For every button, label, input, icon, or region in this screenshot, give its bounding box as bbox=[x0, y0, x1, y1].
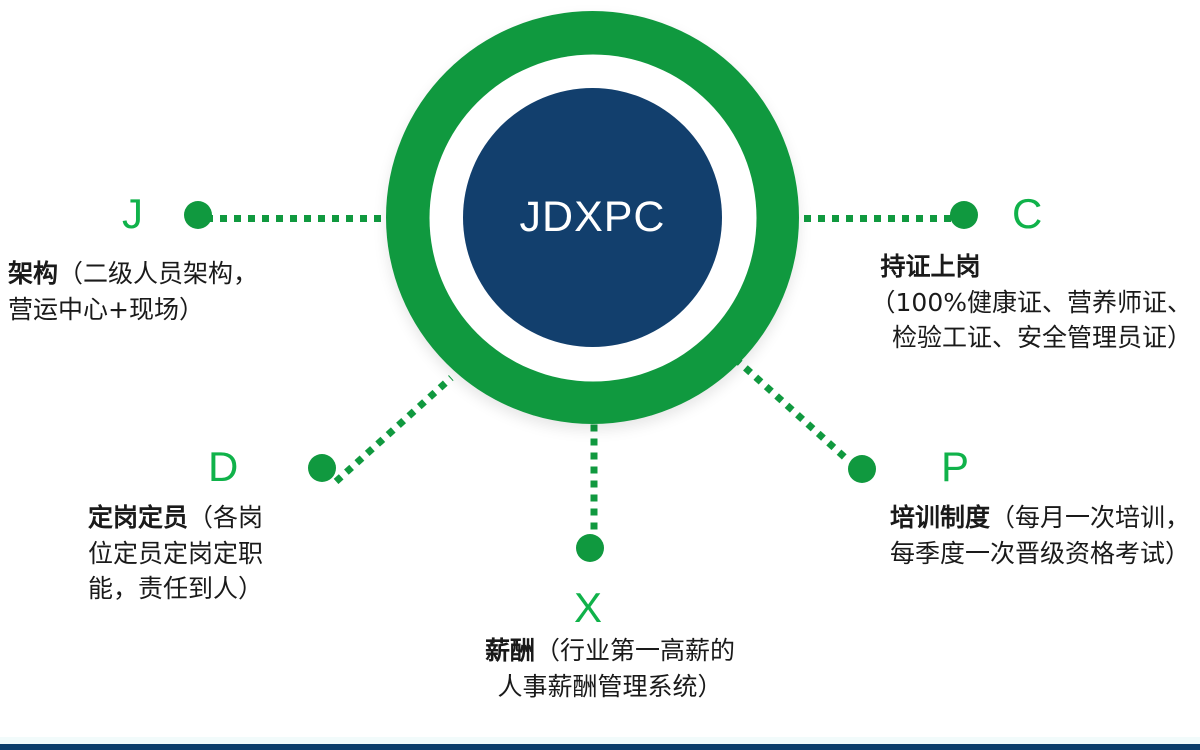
node-j-heading: 架构 bbox=[8, 259, 58, 288]
node-p-heading: 培训制度 bbox=[890, 503, 990, 532]
node-x-line-1: 薪酬（行业第一高薪的 bbox=[455, 633, 765, 669]
node-p-line-1: 培训制度（每月一次培训， bbox=[820, 500, 1190, 536]
node-d-line-1: 定岗定员（各岗 bbox=[88, 500, 263, 536]
connector-p bbox=[733, 356, 849, 462]
node-letter-c: C bbox=[1012, 193, 1042, 235]
bottom-strip bbox=[0, 744, 1200, 750]
bottom-strip-fade bbox=[0, 737, 1200, 744]
node-text-x: 薪酬（行业第一高薪的 人事薪酬管理系统） bbox=[455, 633, 765, 704]
node-letter-d: D bbox=[208, 446, 238, 488]
node-c-body-line-1: （100%健康证、营养师证、 bbox=[871, 285, 1192, 321]
hub-inner-white-ring: JDXPC bbox=[429, 54, 756, 381]
node-j-body-line-1: （二级人员架构， bbox=[58, 259, 258, 288]
node-j-body-line-2: 营运中心+现场） bbox=[8, 292, 258, 328]
node-letter-j: J bbox=[122, 193, 143, 235]
hub-label: JDXPC bbox=[520, 196, 666, 239]
diagram-canvas: JDXPC J C D X P 架构（二级人员架构， 营运中心+现场） 持证上岗… bbox=[0, 0, 1200, 750]
node-j-line-1: 架构（二级人员架构， bbox=[8, 256, 258, 292]
node-d-body-line-2: 位定员定岗定职 bbox=[88, 536, 263, 572]
node-dot-c[interactable] bbox=[950, 201, 978, 229]
node-dot-x[interactable] bbox=[576, 534, 604, 562]
connector-j bbox=[206, 215, 392, 222]
connector-c bbox=[790, 215, 972, 222]
node-d-body-line-3: 能，责任到人） bbox=[88, 571, 263, 607]
node-letter-p: P bbox=[941, 446, 969, 488]
connector-d bbox=[334, 375, 454, 484]
node-d-body-line-1: （各岗 bbox=[188, 503, 263, 532]
node-letter-x: X bbox=[574, 587, 602, 629]
node-x-body-line-1: （行业第一高薪的 bbox=[535, 636, 735, 665]
node-dot-p[interactable] bbox=[848, 455, 876, 483]
node-dot-j[interactable] bbox=[184, 201, 212, 229]
node-d-heading: 定岗定员 bbox=[88, 503, 188, 532]
node-text-d: 定岗定员（各岗 位定员定岗定职 能，责任到人） bbox=[88, 500, 263, 607]
node-x-heading: 薪酬 bbox=[485, 636, 535, 665]
node-c-heading: 持证上岗 bbox=[881, 249, 1192, 285]
node-text-p: 培训制度（每月一次培训， 每季度一次晋级资格考试） bbox=[820, 500, 1190, 571]
node-dot-d[interactable] bbox=[308, 454, 336, 482]
node-text-j: 架构（二级人员架构， 营运中心+现场） bbox=[8, 256, 258, 327]
node-text-c: 持证上岗 （100%健康证、营养师证、 检验工证、安全管理员证） bbox=[871, 249, 1192, 356]
node-x-body-line-2: 人事薪酬管理系统） bbox=[455, 669, 765, 705]
hub-ring: JDXPC bbox=[386, 11, 799, 424]
node-p-body-line-2: 每季度一次晋级资格考试） bbox=[820, 536, 1190, 572]
node-p-body-line-1: （每月一次培训， bbox=[990, 503, 1190, 532]
node-c-body-line-2: 检验工证、安全管理员证） bbox=[871, 320, 1192, 356]
hub-core-circle: JDXPC bbox=[463, 88, 722, 347]
